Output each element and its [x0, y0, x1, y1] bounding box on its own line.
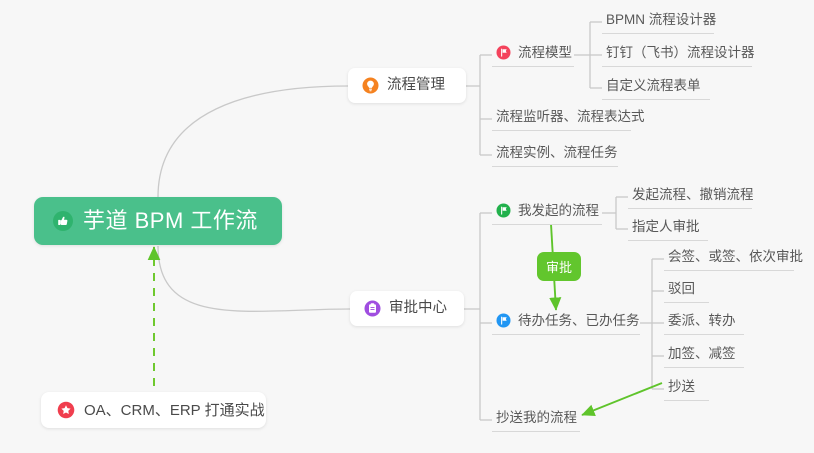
arrow-cc-to-ccme: [582, 383, 662, 415]
node-label-custom-process-form: 自定义流程表单: [606, 79, 701, 93]
node-delegate-transfer[interactable]: 委派、转办: [664, 311, 744, 335]
node-todo-done-tasks[interactable]: 待办任务、已办任务: [492, 311, 640, 335]
branch-node-approval-center[interactable]: 审批中心: [350, 291, 464, 326]
branch-label-approval-center: 审批中心: [389, 301, 447, 316]
callout-card[interactable]: OA、CRM、ERP 打通实战: [41, 392, 266, 428]
node-assignee-approval[interactable]: 指定人审批: [628, 217, 708, 241]
node-process-listener-expression[interactable]: 流程监听器、流程表达式: [492, 107, 631, 131]
flag-circle-icon: [496, 313, 511, 328]
node-label-countersign-orsign-sequential: 会签、或签、依次审批: [668, 250, 803, 264]
flag-circle-icon: [496, 45, 511, 60]
node-label-cc-to-me-process: 抄送我的流程: [496, 411, 577, 425]
lightbulb-pin-icon: [362, 77, 379, 94]
mindmap-canvas: 芋道 BPM 工作流 流程管理 流程模型 BPMN 流程设计器 钉钉（飞书: [0, 0, 814, 453]
node-label-reject: 驳回: [668, 282, 695, 296]
annotation-badge-label: 审批: [546, 257, 572, 276]
node-process-model[interactable]: 流程模型: [492, 43, 574, 67]
node-label-process-instance-task: 流程实例、流程任务: [496, 146, 618, 160]
flag-circle-icon: [496, 203, 511, 218]
node-label-todo-done-tasks: 待办任务、已办任务: [518, 314, 640, 328]
link-root-to-approval-center: [158, 246, 350, 311]
node-start-cancel-process[interactable]: 发起流程、撤销流程: [628, 185, 752, 209]
node-label-process-model: 流程模型: [518, 46, 572, 60]
node-label-bpmn-designer: BPMN 流程设计器: [606, 13, 716, 27]
branch-label-process-management: 流程管理: [387, 78, 445, 93]
branch-node-process-management[interactable]: 流程管理: [348, 68, 466, 103]
thumbs-up-circle-icon: [52, 210, 74, 232]
node-custom-process-form[interactable]: 自定义流程表单: [602, 76, 710, 100]
node-label-assignee-approval: 指定人审批: [632, 220, 700, 234]
callout-label: OA、CRM、ERP 打通实战: [84, 403, 265, 418]
node-label-cc: 抄送: [668, 380, 695, 394]
root-node[interactable]: 芋道 BPM 工作流: [34, 197, 282, 245]
node-add-remove-sign[interactable]: 加签、减签: [664, 344, 744, 368]
node-reject[interactable]: 驳回: [664, 279, 709, 303]
node-process-instance-task[interactable]: 流程实例、流程任务: [492, 143, 618, 167]
node-countersign-orsign-sequential[interactable]: 会签、或签、依次审批: [664, 247, 794, 271]
annotation-badge-approval: 审批: [537, 252, 581, 281]
node-label-start-cancel-process: 发起流程、撤销流程: [632, 188, 754, 202]
node-label-my-initiated-process: 我发起的流程: [518, 204, 599, 218]
node-label-add-remove-sign: 加签、减签: [668, 347, 736, 361]
node-cc[interactable]: 抄送: [664, 377, 709, 401]
node-dingtalk-feishu-designer[interactable]: 钉钉（飞书）流程设计器: [602, 43, 752, 67]
node-label-process-listener-expression: 流程监听器、流程表达式: [496, 110, 645, 124]
node-cc-to-me-process[interactable]: 抄送我的流程: [492, 408, 580, 432]
root-label: 芋道 BPM 工作流: [83, 210, 258, 232]
node-label-dingtalk-feishu-designer: 钉钉（飞书）流程设计器: [606, 46, 755, 60]
node-my-initiated-process[interactable]: 我发起的流程: [492, 201, 602, 225]
clipboard-circle-icon: [364, 300, 381, 317]
node-bpmn-designer[interactable]: BPMN 流程设计器: [602, 10, 714, 34]
star-circle-icon: [57, 401, 75, 419]
link-root-to-process-management: [158, 86, 348, 197]
node-label-delegate-transfer: 委派、转办: [668, 314, 736, 328]
